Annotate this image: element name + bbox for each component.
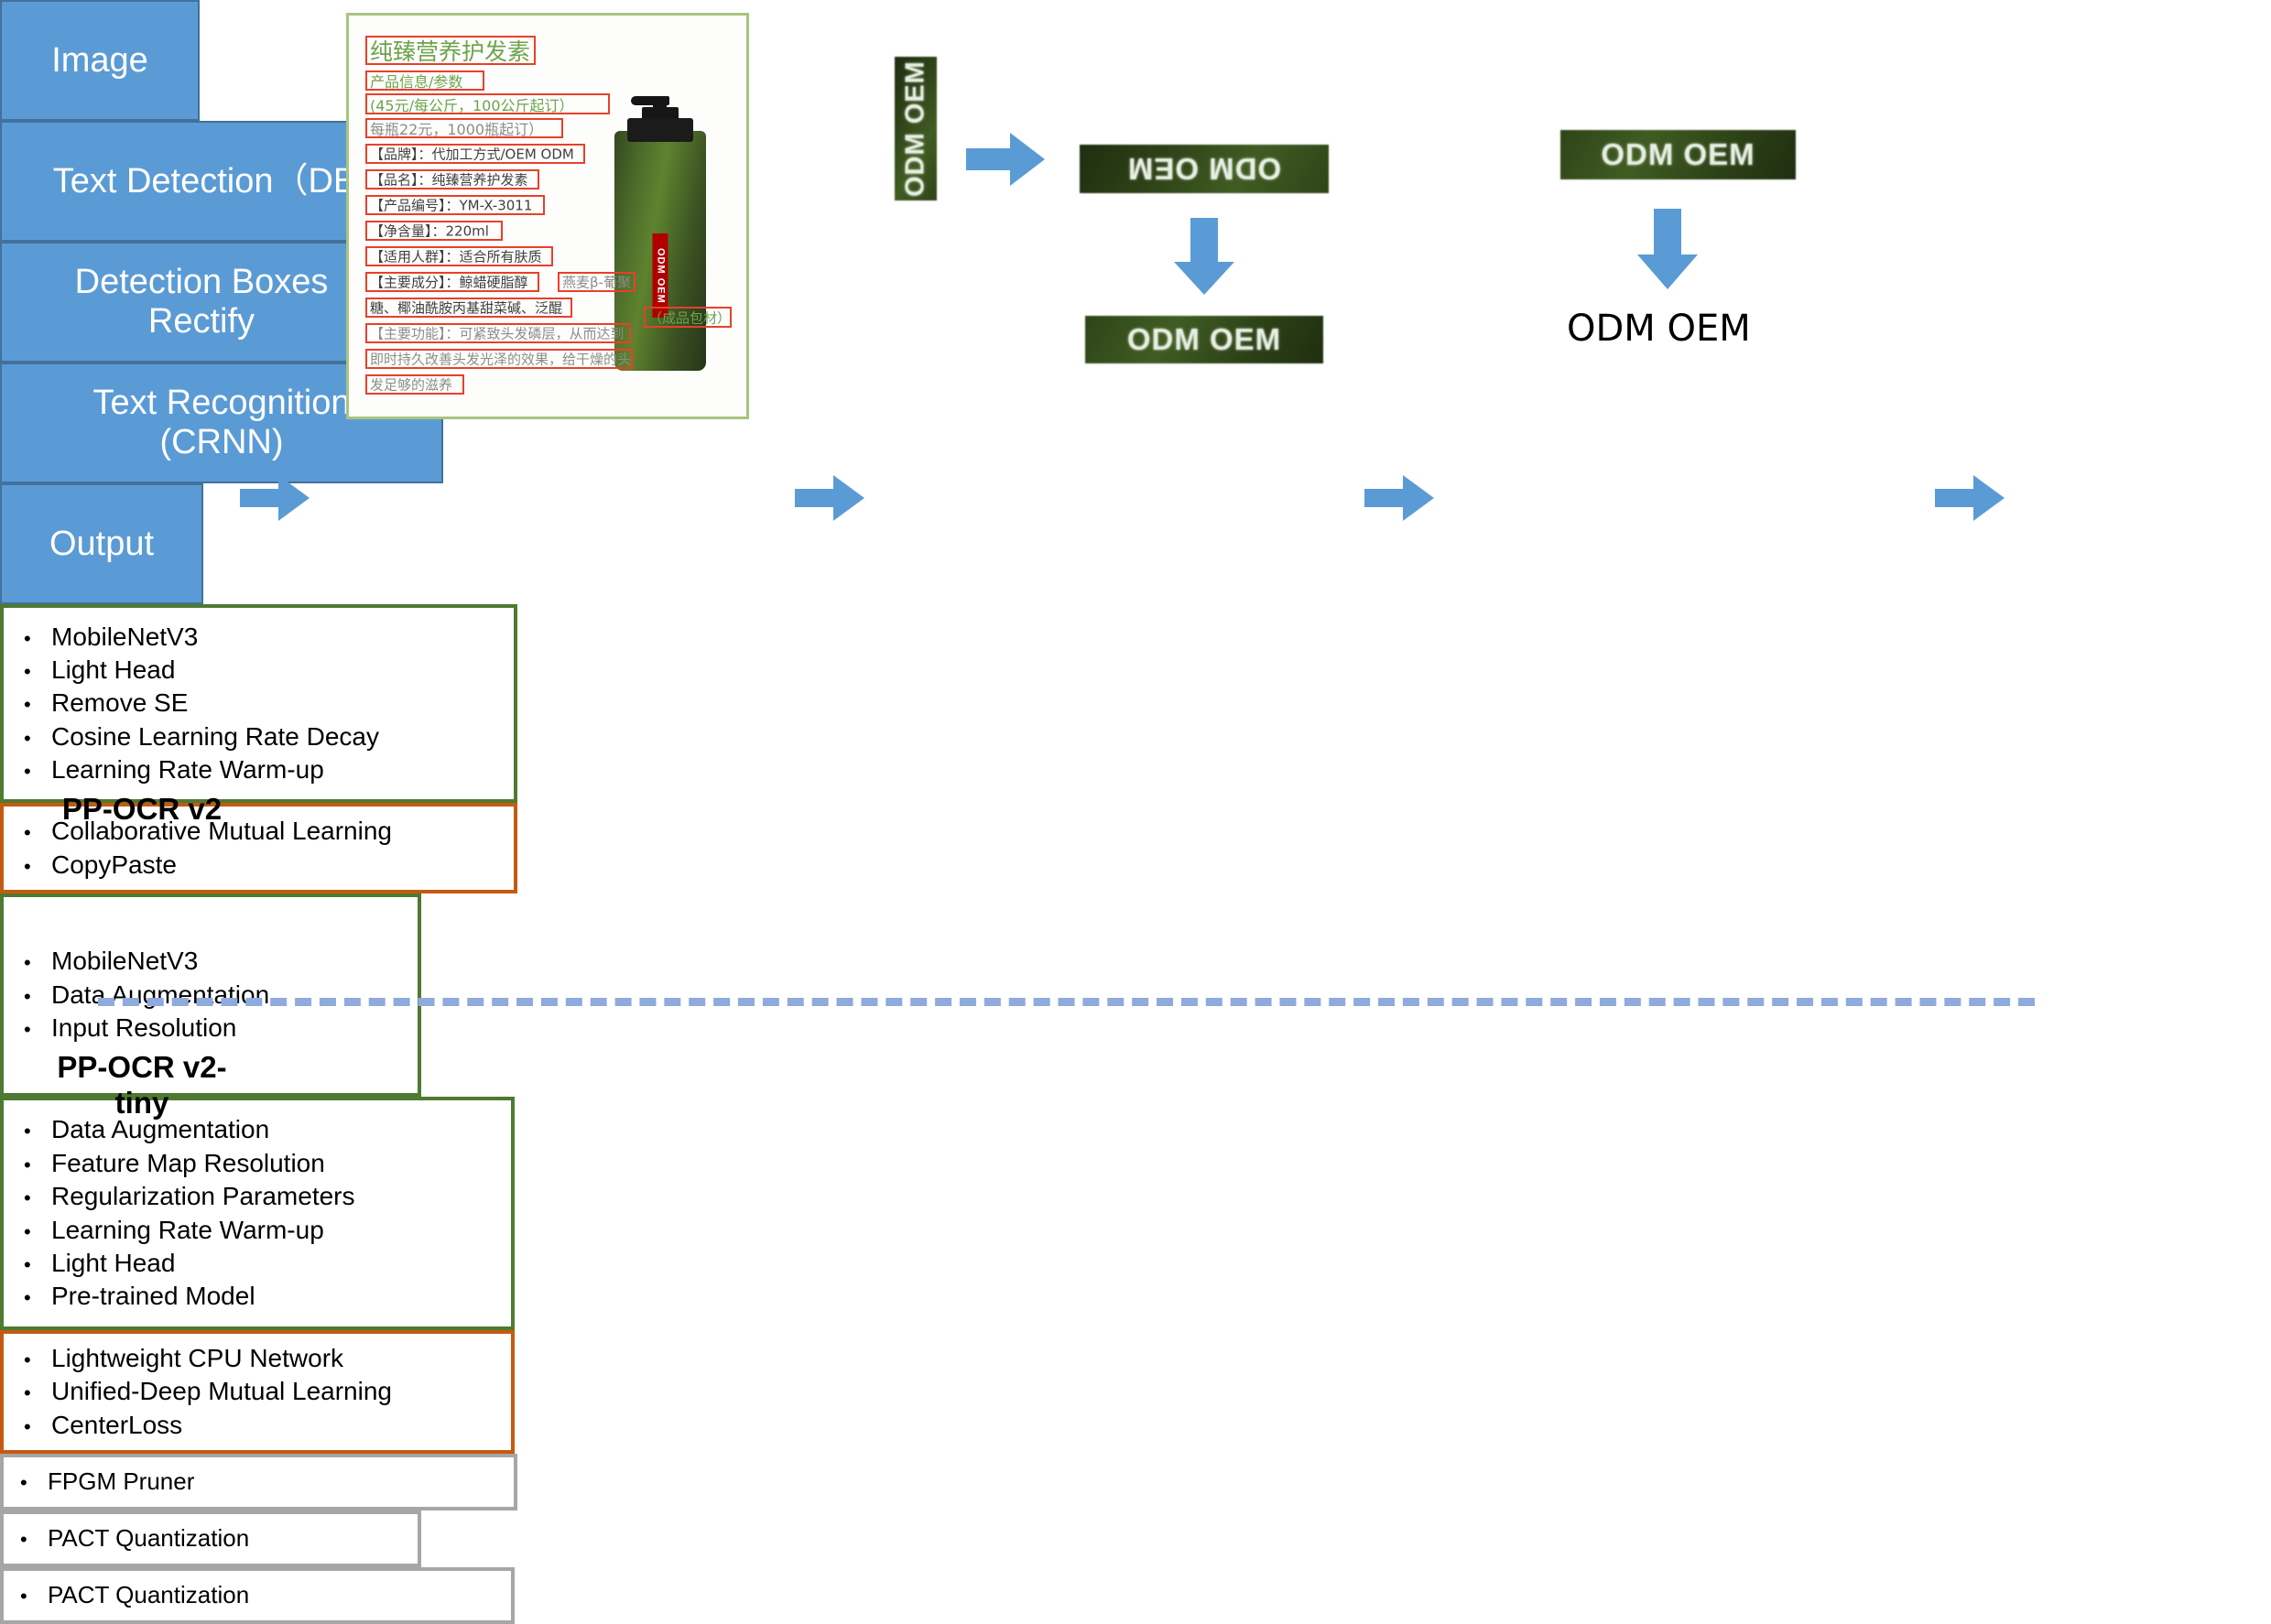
bullet-icon: •: [24, 1121, 51, 1142]
list-item-label: Light Head: [51, 1247, 511, 1280]
detected-text: 【适用人群】：适合所有肤质: [370, 247, 542, 266]
list-item: •Learning Rate Warm-up: [24, 1214, 511, 1247]
bullet-icon: •: [24, 1350, 51, 1370]
detected-text: （成品包材）: [648, 308, 731, 327]
list-item-label: Lightweight CPU Network: [51, 1342, 511, 1375]
bullet-icon: •: [24, 1188, 51, 1208]
detected-text: 即时持久改善头发光泽的效果，给干燥的头: [370, 350, 631, 369]
detected-text: 燕麦β-葡聚: [562, 273, 631, 292]
detection-box: 【主要成分】：鲸蜡硬脂醇: [365, 272, 539, 292]
card-detection-green: •MobileNetV3•Light Head•Remove SE•Cosine…: [0, 604, 517, 803]
detection-box: 即时持久改善头发光泽的效果，给干燥的头: [365, 349, 633, 369]
list-item: •Lightweight CPU Network: [24, 1342, 511, 1375]
bullet-icon: •: [24, 953, 51, 973]
arrow-right-icon-3: [1364, 475, 1436, 521]
detection-box: 【品牌】：代加工方式/OEM ODM: [365, 144, 585, 164]
detected-text: 产品信息/参数: [370, 70, 462, 92]
list-item: •Data Augmentation: [24, 979, 418, 1012]
arrow-down-icon: [1174, 218, 1234, 295]
list-item: •CopyPaste: [24, 849, 514, 882]
list-item-label: Light Head: [51, 654, 514, 687]
bullet-icon: •: [24, 762, 51, 782]
detected-text: 【产品编号】：YM-X-3011: [370, 196, 532, 215]
detection-box: 【主要功能】：可紧致头发磷层，从而达到: [365, 323, 631, 343]
detected-text: 发足够的滋养: [370, 375, 452, 395]
list-item-label: Feature Map Resolution: [51, 1147, 511, 1180]
bullet-icon: •: [24, 1383, 51, 1403]
bullet-icon: •: [24, 695, 51, 715]
list-item: •CenterLoss: [24, 1409, 511, 1442]
detected-text: 糖、椰油酰胺丙基甜菜碱、泛醌: [370, 298, 562, 318]
detection-box: 【适用人群】：适合所有肤质: [365, 246, 553, 266]
list-item-label: Regularization Parameters: [51, 1180, 511, 1213]
list-item: •Cosine Learning Rate Decay: [24, 720, 514, 753]
arrow-right-icon: [966, 133, 1045, 186]
detected-text: 【主要功能】：可紧致头发磷层，从而达到: [370, 324, 625, 343]
card-recognition-green-list: •Data Augmentation•Feature Map Resolutio…: [24, 1113, 511, 1313]
stage-text-detection-label: Text Detection（DB）: [48, 162, 397, 201]
card-tiny-rectify: •PACT Quantization: [0, 1510, 421, 1567]
detection-box: 每瓶22元，1000瓶起订）: [365, 118, 563, 138]
bullet-icon: •: [24, 1155, 51, 1175]
bottle-label: ODM OEM: [653, 233, 668, 318]
bullet-icon: •: [24, 857, 51, 877]
card-recognition-orange: •Lightweight CPU Network•Unified-Deep Mu…: [0, 1330, 515, 1454]
list-item: •MobileNetV3: [24, 945, 418, 978]
bullet-icon: •: [24, 987, 51, 1007]
bullet-icon: •: [24, 1222, 51, 1242]
detection-box: 产品信息/参数: [365, 70, 484, 91]
arrow-right-icon-4: [1935, 475, 2006, 521]
detection-box: （成品包材）: [644, 307, 732, 328]
list-item: •Regularization Parameters: [24, 1180, 511, 1213]
rectified-text-crop: ODM OEM: [1085, 316, 1323, 363]
detection-box: (45元/每公斤，100公斤起订）: [365, 93, 610, 114]
list-item-label: Unified-Deep Mutual Learning: [51, 1375, 511, 1408]
detection-box: 糖、椰油酰胺丙基甜菜碱、泛醌: [365, 298, 572, 318]
list-item: •Light Head: [24, 1247, 511, 1280]
list-item: •PACT Quantization: [20, 1580, 511, 1611]
stage-detection-boxes-rectify-label: Detection Boxes Rectify: [70, 263, 334, 341]
list-item-label: FPGM Pruner: [48, 1467, 514, 1498]
list-item-label: Data Augmentation: [51, 979, 418, 1012]
bullet-icon: •: [24, 729, 51, 749]
bullet-icon: •: [24, 1417, 51, 1437]
detected-text: 【品牌】：代加工方式/OEM ODM: [370, 145, 574, 164]
detected-text: 每瓶22元，1000瓶起订）: [370, 117, 543, 139]
card-tiny-recognition-list: •PACT Quantization: [20, 1580, 511, 1611]
detected-text: 【品名】：纯臻营养护发素: [370, 170, 528, 189]
stage-detection-boxes-rectify[interactable]: Detection Boxes Rectify: [0, 242, 403, 363]
list-item-label: Pre-trained Model: [51, 1280, 511, 1313]
card-rectify-green-list: •MobileNetV3•Data Augmentation•Input Res…: [24, 945, 418, 1045]
arrow-down-icon-recognition: [1637, 209, 1698, 291]
recognized-text-output: ODM OEM: [1567, 308, 1751, 350]
bullet-icon: •: [24, 1255, 51, 1275]
bullet-icon: •: [24, 662, 51, 682]
detected-text: 纯臻营养护发素: [370, 34, 530, 67]
bottle-shoulder: [627, 118, 693, 142]
list-item-label: MobileNetV3: [51, 621, 514, 654]
card-tiny-recognition: •PACT Quantization: [0, 1567, 515, 1624]
arrow-right-icon-1: [240, 475, 311, 521]
list-item-label: Learning Rate Warm-up: [51, 1214, 511, 1247]
card-recognition-green: •Data Augmentation•Feature Map Resolutio…: [0, 1097, 515, 1330]
detected-text: 【净含量】：220ml: [370, 222, 489, 241]
sample-document-image: ODM OEM 纯臻营养护发素产品信息/参数(45元/每公斤，100公斤起订）每…: [346, 13, 749, 419]
list-item: •Learning Rate Warm-up: [24, 753, 514, 786]
detected-text: 【主要成分】：鲸蜡硬脂醇: [370, 273, 528, 292]
list-item: •PACT Quantization: [20, 1523, 418, 1554]
list-item-label: PACT Quantization: [48, 1523, 418, 1554]
list-item-label: CenterLoss: [51, 1409, 511, 1442]
detection-box: 纯臻营养护发素: [365, 36, 536, 65]
stage-text-recognition-label: Text Recognition (CRNN): [88, 384, 356, 461]
list-item-label: Learning Rate Warm-up: [51, 753, 514, 786]
detection-box: 发足够的滋养: [365, 374, 464, 395]
list-item-label: PACT Quantization: [48, 1580, 511, 1611]
list-item: •Feature Map Resolution: [24, 1147, 511, 1180]
card-recognition-orange-list: •Lightweight CPU Network•Unified-Deep Mu…: [24, 1342, 511, 1442]
list-item: •Remove SE: [24, 687, 514, 720]
list-item-label: MobileNetV3: [51, 945, 418, 978]
recognition-input-crop: ODM OEM: [1560, 130, 1796, 179]
bullet-icon: •: [20, 1586, 48, 1607]
list-item-label: CopyPaste: [51, 849, 514, 882]
detection-box: 【品名】：纯臻营养护发素: [365, 169, 539, 189]
detection-box: 燕麦β-葡聚: [558, 272, 636, 292]
vertical-text-crop: ODM OEM: [895, 57, 937, 200]
section-divider: [98, 998, 2035, 1006]
bullet-icon: •: [20, 1530, 48, 1550]
bullet-icon: •: [24, 1288, 51, 1308]
bullet-icon: •: [20, 1473, 48, 1493]
list-item: •Unified-Deep Mutual Learning: [24, 1375, 511, 1408]
list-item: •FPGM Pruner: [20, 1467, 514, 1498]
row-label-ppocr-v2-tiny: PP-OCR v2- tiny: [37, 1050, 247, 1121]
list-item-label: Input Resolution: [51, 1012, 418, 1045]
arrow-right-icon-2: [795, 475, 866, 521]
stage-output[interactable]: Output: [0, 483, 203, 604]
card-tiny-detection-list: •FPGM Pruner: [20, 1467, 514, 1498]
stage-image-label: Image: [46, 41, 154, 81]
stage-output-label: Output: [44, 525, 159, 564]
detected-text: (45元/每公斤，100公斤起订）: [370, 93, 574, 115]
bullet-icon: •: [24, 629, 51, 649]
stage-image[interactable]: Image: [0, 0, 200, 121]
list-item-label: Remove SE: [51, 687, 514, 720]
card-detection-green-list: •MobileNetV3•Light Head•Remove SE•Cosine…: [24, 621, 514, 787]
card-tiny-rectify-list: •PACT Quantization: [20, 1523, 418, 1554]
detection-box: 【产品编号】：YM-X-3011: [365, 195, 545, 215]
list-item: •MobileNetV3: [24, 621, 514, 654]
card-tiny-detection: •FPGM Pruner: [0, 1454, 517, 1510]
row-label-ppocr-v2: PP-OCR v2: [37, 792, 247, 828]
detection-box: 【净含量】：220ml: [365, 221, 503, 241]
list-item: •Pre-trained Model: [24, 1280, 511, 1313]
list-item-label: Cosine Learning Rate Decay: [51, 720, 514, 753]
list-item: •Input Resolution: [24, 1012, 418, 1045]
rotated-text-crop: ODM OEM: [1080, 145, 1329, 193]
bullet-icon: •: [24, 1020, 51, 1040]
list-item: •Light Head: [24, 654, 514, 687]
